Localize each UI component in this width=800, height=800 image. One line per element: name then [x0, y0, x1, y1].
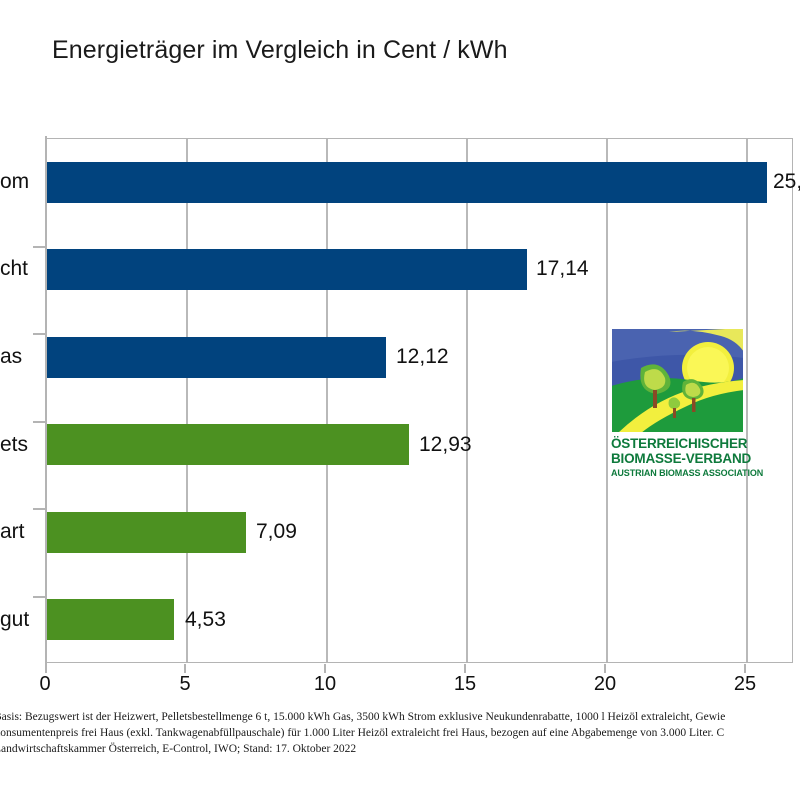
gridline-15 [466, 139, 468, 662]
chart-title: Energieträger im Vergleich in Cent / kWh [52, 36, 508, 65]
bar-erdgas[interactable] [47, 337, 386, 378]
bar-hackgut[interactable] [47, 599, 174, 640]
value-label-hackgut-hart: 7,09 [256, 520, 297, 544]
x-tick-0 [45, 664, 47, 673]
category-label-heizoel: cht [0, 257, 28, 281]
gridline-10 [326, 139, 328, 662]
bar-hackgut-hart[interactable] [47, 512, 246, 553]
footnote-line-1: Basis: Bezugswert ist der Heizwert, Pell… [0, 709, 800, 725]
footnote-line-2: Konsumentenpreis frei Haus (exkl. Tankwa… [0, 725, 800, 741]
logo-line-2: BIOMASSE-VERBAND [611, 451, 744, 466]
x-tick-15 [464, 664, 466, 673]
bar-pellets[interactable] [47, 424, 409, 465]
x-axis-label-25: 25 [715, 673, 775, 696]
x-axis-label-15: 15 [435, 673, 495, 696]
y-tick-1 [33, 333, 45, 335]
value-label-pellets: 12,93 [419, 433, 472, 457]
x-axis-label-0: 0 [15, 673, 75, 696]
x-tick-20 [604, 664, 606, 673]
category-label-pellets: ets [0, 433, 28, 457]
x-axis-label-5: 5 [155, 673, 215, 696]
bar-heizoel[interactable] [47, 249, 527, 290]
category-label-strom: om [0, 170, 29, 194]
y-tick-3 [33, 508, 45, 510]
logo-line-1: ÖSTERREICHISCHER [611, 436, 744, 451]
gridline-5 [186, 139, 188, 662]
chart-container: Energieträger im Vergleich in Cent / kWh… [0, 0, 800, 800]
footnote-line-3: Landwirtschaftskammer Österreich, E-Cont… [0, 741, 800, 757]
gridline-25 [746, 139, 748, 662]
y-tick-4 [33, 596, 45, 598]
value-label-strom: 25, [773, 170, 800, 194]
category-label-erdgas: as [0, 345, 22, 369]
y-tick-2 [33, 421, 45, 423]
x-tick-25 [744, 664, 746, 673]
logo-artwork-icon [611, 328, 744, 433]
category-label-hackgut: gut [0, 608, 29, 632]
category-label-hackgut-hart: art [0, 520, 25, 544]
x-axis-label-20: 20 [575, 673, 635, 696]
value-label-hackgut: 4,53 [185, 608, 226, 632]
footnote-block: Basis: Bezugswert ist der Heizwert, Pell… [0, 709, 800, 757]
y-axis-line [45, 136, 47, 665]
x-axis-label-10: 10 [295, 673, 355, 696]
logo-line-3: AUSTRIAN BIOMASS ASSOCIATION [611, 468, 744, 478]
x-tick-10 [324, 664, 326, 673]
x-tick-5 [184, 664, 186, 673]
value-label-heizoel: 17,14 [536, 257, 589, 281]
value-label-erdgas: 12,12 [396, 345, 449, 369]
gridline-20 [606, 139, 608, 662]
biomass-association-logo: ÖSTERREICHISCHER BIOMASSE-VERBAND AUSTRI… [611, 328, 744, 478]
bar-strom[interactable] [47, 162, 767, 203]
y-tick-0 [33, 246, 45, 248]
